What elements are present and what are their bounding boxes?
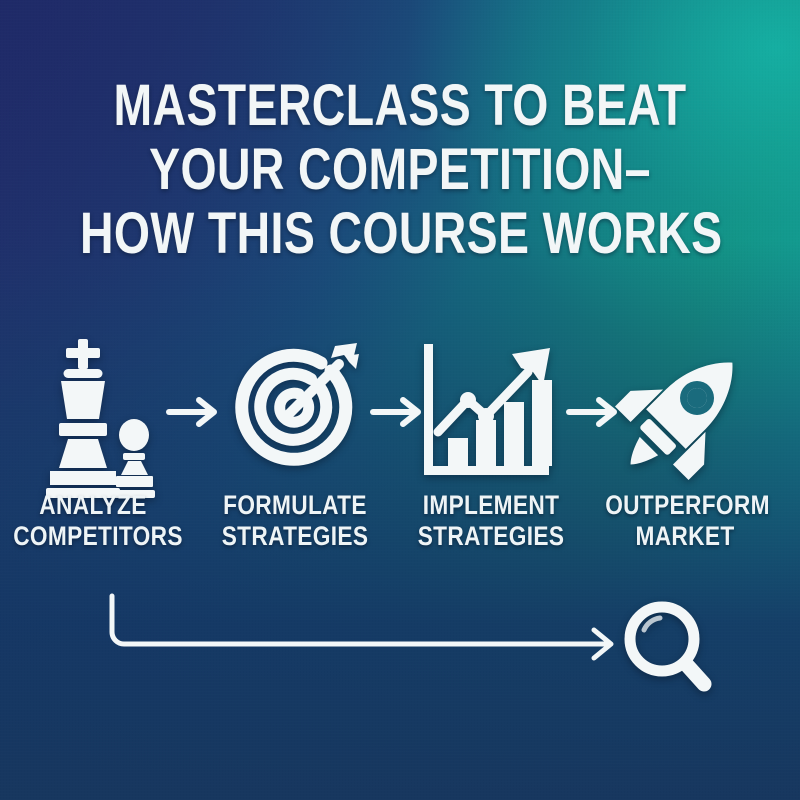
bar-chart-growth-icon [416, 340, 566, 480]
feedback-loop-arrow [90, 580, 650, 670]
infographic-poster: MASTERCLASS TO BEAT YOUR COMPETITION– HO… [0, 0, 800, 800]
step-caption: OUTPERFORM MARKET [605, 490, 765, 552]
magnifying-glass-icon [612, 592, 722, 698]
step-icon-wrap [200, 330, 390, 490]
arrow-right-icon [370, 392, 426, 432]
step-caption-line2: STRATEGIES [215, 521, 375, 552]
step-caption-line2: COMPETITORS [13, 521, 173, 552]
step-caption-line1: ANALYZE [13, 490, 173, 521]
step-implement-strategies: IMPLEMENT STRATEGIES [396, 330, 586, 580]
chess-king-pawn-icon [28, 335, 158, 485]
magnifying-glass [612, 592, 722, 698]
arrow-right-icon [166, 392, 222, 432]
step-outperform-market: OUTPERFORM MARKET [590, 330, 780, 580]
connector-arrow-2 [370, 392, 426, 432]
title-line-1: MASTERCLASS TO BEAT [80, 74, 720, 138]
step-caption-line2: STRATEGIES [411, 521, 571, 552]
step-caption-line1: IMPLEMENT [411, 490, 571, 521]
process-steps: ANALYZE COMPETITORS [0, 330, 800, 585]
title-line-2: YOUR COMPETITION– [80, 138, 720, 202]
arrow-right-icon [566, 392, 622, 432]
step-caption-line1: OUTPERFORM [605, 490, 765, 521]
step-analyze-competitors: ANALYZE COMPETITORS [0, 330, 188, 580]
feedback-loop-arrow-icon [90, 580, 650, 670]
connector-arrow-1 [166, 392, 222, 432]
step-formulate-strategies: FORMULATE STRATEGIES [200, 330, 390, 580]
step-icon-wrap [0, 330, 188, 490]
step-caption: FORMULATE STRATEGIES [215, 490, 375, 552]
target-bullseye-arrow-icon [223, 338, 368, 483]
step-caption-line1: FORMULATE [215, 490, 375, 521]
title-line-3: HOW THIS COURSE WORKS [80, 202, 720, 266]
page-title: MASTERCLASS TO BEAT YOUR COMPETITION– HO… [0, 74, 800, 266]
step-caption: ANALYZE COMPETITORS [13, 490, 173, 552]
step-caption-line2: MARKET [605, 521, 765, 552]
step-caption: IMPLEMENT STRATEGIES [411, 490, 571, 552]
connector-arrow-3 [566, 392, 622, 432]
rocket-icon [610, 335, 760, 485]
